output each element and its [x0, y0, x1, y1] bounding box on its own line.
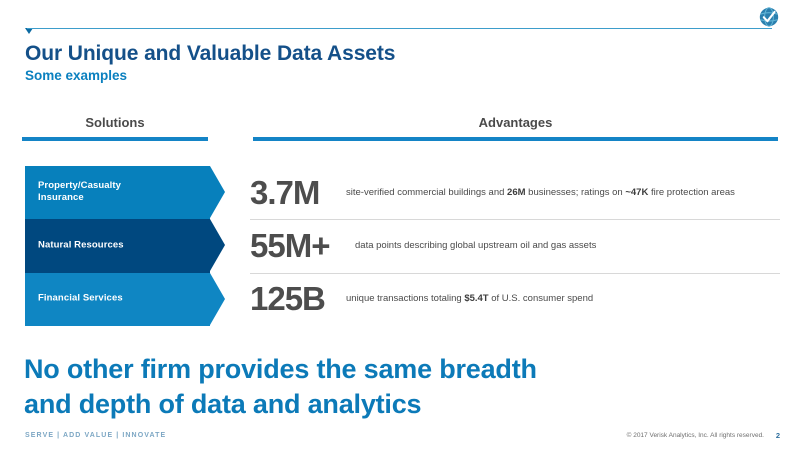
- advantage-figure: 3.7M: [250, 174, 346, 212]
- advantage-row: 3.7M site-verified commercial buildings …: [250, 166, 780, 219]
- solution-chevron[interactable]: Financial Services: [25, 273, 225, 326]
- chevron-arrow-icon: [210, 273, 225, 325]
- column-header-solutions: Solutions: [22, 115, 208, 130]
- page-subtitle: Some examples: [25, 68, 127, 83]
- solution-label: Natural Resources: [38, 240, 124, 253]
- top-rule: [27, 28, 772, 29]
- footer-tagline: SERVE | ADD VALUE | INNOVATE: [25, 432, 166, 439]
- solutions-chevron-stack: Property/CasualtyInsurance Natural Resou…: [25, 166, 225, 326]
- advantage-description: data points describing global upstream o…: [355, 239, 780, 253]
- advantages-list: 3.7M site-verified commercial buildings …: [250, 166, 780, 326]
- footer-copyright: © 2017 Verisk Analytics, Inc. All rights…: [627, 432, 764, 439]
- column-rule-solutions: [22, 137, 208, 141]
- solution-chevron[interactable]: Property/CasualtyInsurance: [25, 166, 225, 219]
- advantage-figure: 125B: [250, 280, 346, 318]
- closing-statement: No other firm provides the same breadth …: [24, 352, 537, 421]
- advantage-figure: 55M+: [250, 227, 355, 265]
- advantage-description: unique transactions totaling $5.4T of U.…: [346, 292, 780, 306]
- closing-line-1: No other firm provides the same breadth: [24, 352, 537, 387]
- solution-chevron[interactable]: Natural Resources: [25, 219, 225, 272]
- advantage-description: site-verified commercial buildings and 2…: [346, 186, 780, 200]
- column-rule-advantages: [253, 137, 778, 141]
- advantage-row: 125B unique transactions totaling $5.4T …: [250, 273, 780, 326]
- solution-label: Property/CasualtyInsurance: [38, 180, 121, 206]
- footer-page-number: 2: [776, 431, 780, 440]
- column-header-advantages: Advantages: [253, 115, 778, 130]
- solution-label: Financial Services: [38, 293, 123, 306]
- chevron-arrow-icon: [210, 166, 225, 218]
- advantage-row: 55M+ data points describing global upstr…: [250, 219, 780, 272]
- chevron-arrow-icon: [210, 219, 225, 271]
- verisk-globe-check-icon: [759, 7, 779, 27]
- page-title: Our Unique and Valuable Data Assets: [25, 42, 395, 66]
- closing-line-2: and depth of data and analytics: [24, 387, 537, 422]
